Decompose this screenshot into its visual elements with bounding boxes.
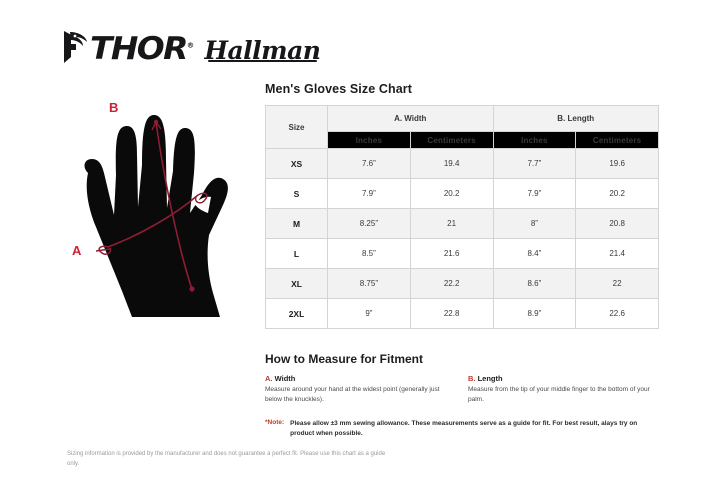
note-text: Please allow ±3 mm sewing allowance. The… — [290, 419, 659, 440]
cell-size: XL — [266, 269, 328, 299]
cell-length-inches: 7.9” — [493, 179, 576, 209]
cell-size: M — [266, 209, 328, 239]
cell-length-inches: 8.9” — [493, 299, 576, 329]
cell-size: L — [266, 239, 328, 269]
note-row: *Note: Please allow ±3 mm sewing allowan… — [265, 419, 659, 440]
table-head: Size A. Width B. Length Inches Centimete… — [266, 106, 659, 149]
cell-width-inches: 7.6” — [328, 149, 411, 179]
size-chart-table: Size A. Width B. Length Inches Centimete… — [265, 105, 659, 329]
column-header-size: Size — [266, 106, 328, 149]
table-row: S 7.9” 20.2 7.9” 20.2 — [266, 179, 659, 209]
table-header-row-groups: Size A. Width B. Length — [266, 106, 659, 132]
cell-width-centimeters: 20.2 — [410, 179, 493, 209]
cell-length-centimeters: 20.2 — [576, 179, 659, 209]
how-to-measure-columns: A. Width Measure around your hand at the… — [265, 374, 659, 405]
cell-length-centimeters: 22.6 — [576, 299, 659, 329]
cell-size: 2XL — [266, 299, 328, 329]
thor-hammer-bird-icon — [62, 30, 88, 69]
how-to-length-letter: B. — [468, 374, 476, 383]
cell-width-centimeters: 21.6 — [410, 239, 493, 269]
cell-width-inches: 9” — [328, 299, 411, 329]
table-row: L 8.5” 21.6 8.4” 21.4 — [266, 239, 659, 269]
column-group-length: B. Length — [493, 106, 659, 132]
table-body: XS 7.6” 19.4 7.7” 19.6 S 7.9” 20.2 7.9” … — [266, 149, 659, 329]
cell-width-centimeters: 22.8 — [410, 299, 493, 329]
thor-logo: THOR® — [62, 30, 188, 69]
how-to-measure-length: B. Length Measure from the tip of your m… — [468, 374, 659, 405]
cell-length-inches: 8” — [493, 209, 576, 239]
how-to-measure-width: A. Width Measure around your hand at the… — [265, 374, 468, 405]
cell-size: S — [266, 179, 328, 209]
cell-size: XS — [266, 149, 328, 179]
cell-length-centimeters: 20.8 — [576, 209, 659, 239]
column-header-length-centimeters: Centimeters — [576, 132, 659, 149]
how-to-measure-title: How to Measure for Fitment — [265, 352, 659, 366]
page-title: Men's Gloves Size Chart — [265, 82, 659, 96]
how-to-width-text: Measure around your hand at the widest p… — [265, 385, 458, 405]
cell-width-centimeters: 19.4 — [410, 149, 493, 179]
measure-label-a: A — [72, 243, 82, 258]
column-header-width-inches: Inches — [328, 132, 411, 149]
cell-width-inches: 8.25” — [328, 209, 411, 239]
hallman-logo: Hallman — [204, 38, 320, 63]
cell-length-inches: 7.7” — [493, 149, 576, 179]
cell-length-centimeters: 21.4 — [576, 239, 659, 269]
measure-arrowhead-b — [154, 120, 158, 124]
registered-mark: ® — [187, 42, 194, 50]
how-to-width-heading: A. Width — [265, 374, 458, 383]
cell-width-inches: 7.9” — [328, 179, 411, 209]
cell-width-centimeters: 22.2 — [410, 269, 493, 299]
table-row: XS 7.6” 19.4 7.7” 19.6 — [266, 149, 659, 179]
column-group-width: A. Width — [328, 106, 494, 132]
how-to-length-heading: B. Length — [468, 374, 659, 383]
how-to-width-letter: A. — [265, 374, 273, 383]
column-header-length-inches: Inches — [493, 132, 576, 149]
hand-measurement-diagram: B A — [70, 95, 265, 320]
table-row: XL 8.75” 22.2 8.6” 22 — [266, 269, 659, 299]
brand-header: THOR® Hallman — [62, 30, 320, 69]
cell-length-inches: 8.6” — [493, 269, 576, 299]
footer-disclaimer: Sizing information is provided by the ma… — [67, 450, 397, 470]
cell-width-centimeters: 21 — [410, 209, 493, 239]
cell-length-centimeters: 22 — [576, 269, 659, 299]
cell-length-inches: 8.4” — [493, 239, 576, 269]
table-row: M 8.25” 21 8” 20.8 — [266, 209, 659, 239]
column-header-width-centimeters: Centimeters — [410, 132, 493, 149]
how-to-width-label: Width — [275, 374, 296, 383]
how-to-length-label: Length — [478, 374, 503, 383]
note-label: *Note: — [265, 419, 284, 440]
how-to-length-text: Measure from the tip of your middle fing… — [468, 385, 659, 405]
how-to-measure-section: How to Measure for Fitment A. Width Meas… — [265, 352, 659, 405]
thor-wordmark: THOR® — [90, 34, 194, 65]
cell-width-inches: 8.5” — [328, 239, 411, 269]
table-row: 2XL 9” 22.8 8.9” 22.6 — [266, 299, 659, 329]
size-chart-panel: Men's Gloves Size Chart Size A. Width B.… — [265, 82, 659, 329]
cell-width-inches: 8.75” — [328, 269, 411, 299]
measure-endpoint-b — [189, 286, 194, 291]
cell-length-centimeters: 19.6 — [576, 149, 659, 179]
measure-label-b: B — [109, 100, 118, 115]
hand-silhouette — [85, 115, 228, 317]
